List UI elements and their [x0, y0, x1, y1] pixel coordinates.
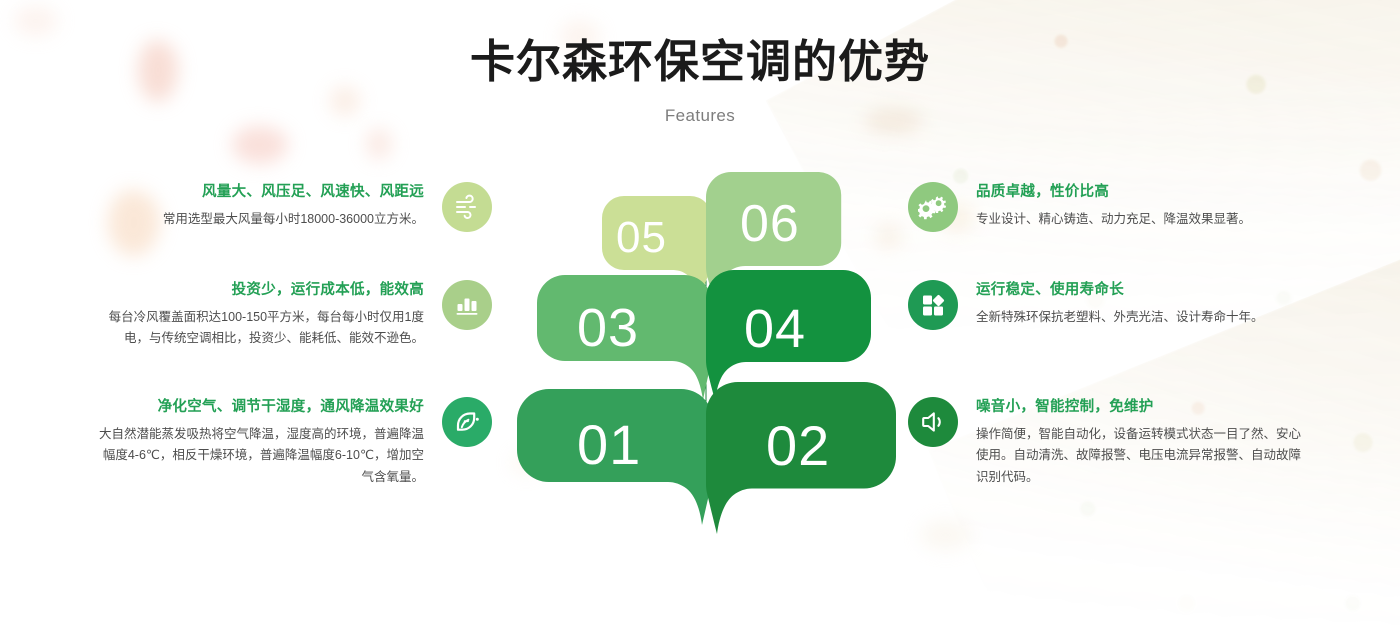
leaf-number-01: 01	[577, 417, 641, 473]
feature-desc-03: 每台冷风覆盖面积达100-150平方米，每台每小时仅用1度电，与传统空调相比，投…	[92, 307, 424, 350]
leaf-04[interactable]: 04	[706, 270, 871, 400]
bg-blob	[366, 128, 392, 160]
feature-desc-06: 专业设计、精心铸造、动力充足、降温效果显著。	[976, 209, 1308, 231]
infographic-canvas: 卡尔森环保空调的优势 Features 风量大、风压足、风速快、风距远 常用选型…	[0, 0, 1400, 644]
header: 卡尔森环保空调的优势 Features	[0, 34, 1400, 126]
feature-desc-05: 常用选型最大风量每小时18000-36000立方米。	[92, 209, 424, 231]
leaf-cluster: 05 06 03 04 01	[497, 160, 917, 560]
feature-desc-01: 大自然潜能蒸发吸热将空气降温，湿度高的环境，普遍降温幅度4-6℃，相反干燥环境，…	[92, 424, 424, 489]
feature-text-02: 噪音小，智能控制，免维护 操作简便，智能自动化，设备运转模式状态一目了然、安心使…	[976, 395, 1308, 488]
feature-item-02[interactable]: 噪音小，智能控制，免维护 操作简便，智能自动化，设备运转模式状态一目了然、安心使…	[908, 395, 1308, 488]
feature-text-06: 品质卓越，性价比高 专业设计、精心铸造、动力充足、降温效果显著。	[976, 180, 1308, 230]
bg-blob	[232, 126, 288, 164]
feature-desc-04: 全新特殊环保抗老塑料、外壳光洁、设计寿命十年。	[976, 307, 1308, 329]
leaf-number-04: 04	[744, 302, 806, 356]
feature-title-03: 投资少，运行成本低，能效高	[92, 281, 424, 300]
feature-title-05: 风量大、风压足、风速快、风距远	[92, 183, 424, 202]
bar-chart-icon	[442, 280, 492, 330]
leaf-02[interactable]: 02	[706, 382, 896, 534]
leaf-number-05: 05	[616, 216, 667, 260]
feature-text-05: 风量大、风压足、风速快、风距远 常用选型最大风量每小时18000-36000立方…	[92, 180, 424, 230]
feature-title-06: 品质卓越，性价比高	[976, 183, 1308, 202]
feature-text-01: 净化空气、调节干湿度，通风降温效果好 大自然潜能蒸发吸热将空气降温，湿度高的环境…	[92, 395, 424, 488]
feature-text-03: 投资少，运行成本低，能效高 每台冷风覆盖面积达100-150平方米，每台每小时仅…	[92, 278, 424, 350]
feature-text-04: 运行稳定、使用寿命长 全新特殊环保抗老塑料、外壳光洁、设计寿命十年。	[976, 278, 1308, 328]
feature-item-06[interactable]: 品质卓越，性价比高 专业设计、精心铸造、动力充足、降温效果显著。	[908, 180, 1308, 232]
feature-title-01: 净化空气、调节干湿度，通风降温效果好	[92, 398, 424, 417]
page-subtitle: Features	[0, 106, 1400, 126]
leaf-01[interactable]: 01	[517, 389, 713, 529]
feature-title-02: 噪音小，智能控制，免维护	[976, 398, 1308, 417]
feature-item-04[interactable]: 运行稳定、使用寿命长 全新特殊环保抗老塑料、外壳光洁、设计寿命十年。	[908, 278, 1308, 330]
feature-item-05[interactable]: 风量大、风压足、风速快、风距远 常用选型最大风量每小时18000-36000立方…	[92, 180, 492, 232]
bg-blob	[920, 520, 972, 550]
leaf-number-02: 02	[766, 418, 830, 474]
leaf-number-06: 06	[740, 198, 800, 250]
page-title: 卡尔森环保空调的优势	[0, 34, 1400, 90]
feature-item-01[interactable]: 净化空气、调节干湿度，通风降温效果好 大自然潜能蒸发吸热将空气降温，湿度高的环境…	[92, 395, 492, 488]
leaf-03[interactable]: 03	[537, 275, 712, 400]
leaf-eco-icon	[442, 397, 492, 447]
feature-item-03[interactable]: 投资少，运行成本低，能效高 每台冷风覆盖面积达100-150平方米，每台每小时仅…	[92, 278, 492, 350]
leaf-number-03: 03	[577, 301, 639, 355]
bg-blob	[14, 6, 58, 36]
feature-title-04: 运行稳定、使用寿命长	[976, 281, 1308, 300]
wind-icon	[442, 182, 492, 232]
feature-desc-02: 操作简便，智能自动化，设备运转模式状态一目了然、安心使用。自动清洗、故障报警、电…	[976, 424, 1308, 489]
